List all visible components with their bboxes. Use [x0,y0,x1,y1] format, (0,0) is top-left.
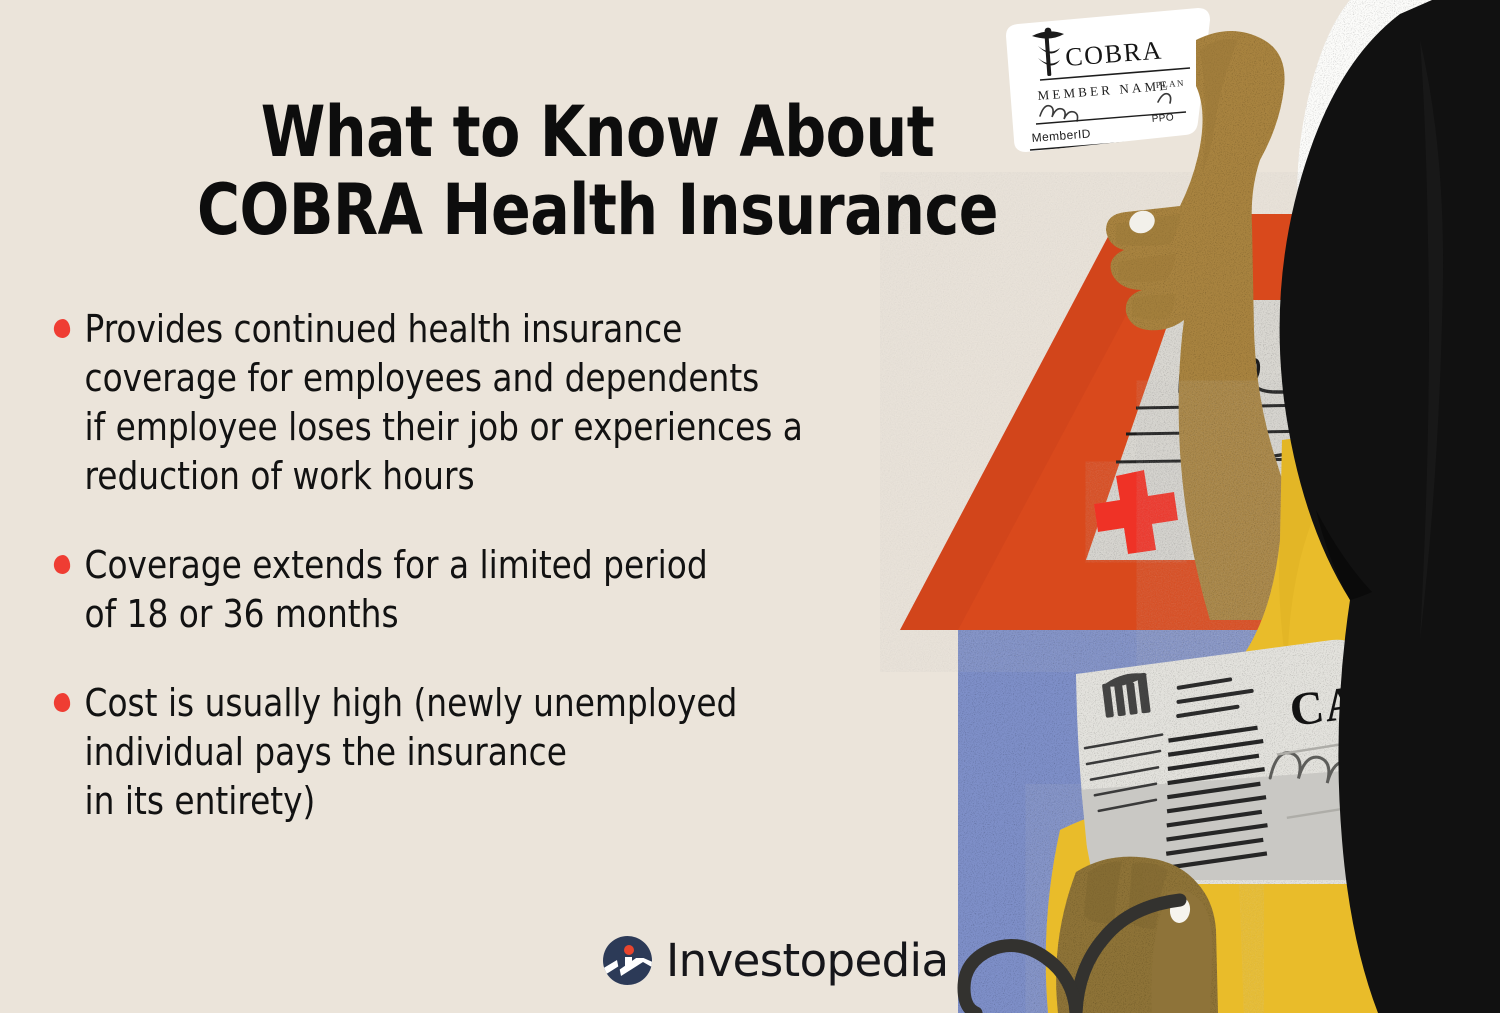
bullet-marker-icon [54,319,70,338]
bullet-1-line-2: coverage for employees and dependents [85,354,924,403]
investopedia-logo: Investopedia [603,936,948,985]
bullet-3-line-3: in its entirety) [85,777,924,826]
bullet-text: Provides continued health insurance cove… [85,305,924,501]
investopedia-wordmark: Investopedia [666,938,948,983]
bullet-1-line-4: reduction of work hours [85,452,924,501]
bullet-1-line-1: Provides continued health insurance [85,305,924,354]
bullet-text: Cost is usually high (newly unemployed i… [85,679,924,826]
logo-dot-icon [624,945,634,955]
bullet-marker-icon [54,693,70,712]
bullet-text: Coverage extends for a limited period of… [85,541,924,639]
bullet-list: Provides continued health insurance cove… [50,305,960,866]
page-title: What to Know About COBRA Health Insuranc… [42,93,1153,249]
infographic-canvas: COBRA MEMBER NAME PLAN MemberID PPO [0,0,1500,1013]
title-line-2: COBRA Health Insurance [42,171,1153,249]
bullet-3-line-1: Cost is usually high (newly unemployed [85,679,924,728]
list-item: Coverage extends for a limited period of… [50,541,924,639]
bullet-marker-icon [54,555,70,574]
list-item: Provides continued health insurance cove… [50,305,924,501]
title-line-1: What to Know About [42,93,1153,171]
card-plan-label: PPO [1151,112,1174,125]
logo-swoosh-icon [603,958,652,985]
investopedia-mark-icon [603,936,652,985]
bullet-2-line-1: Coverage extends for a limited period [85,541,924,590]
list-item: Cost is usually high (newly unemployed i… [50,679,924,826]
bullet-2-line-2: of 18 or 36 months [85,590,924,639]
bullet-1-line-3: if employee loses their job or experienc… [85,403,924,452]
bullet-3-line-2: individual pays the insurance [85,728,924,777]
